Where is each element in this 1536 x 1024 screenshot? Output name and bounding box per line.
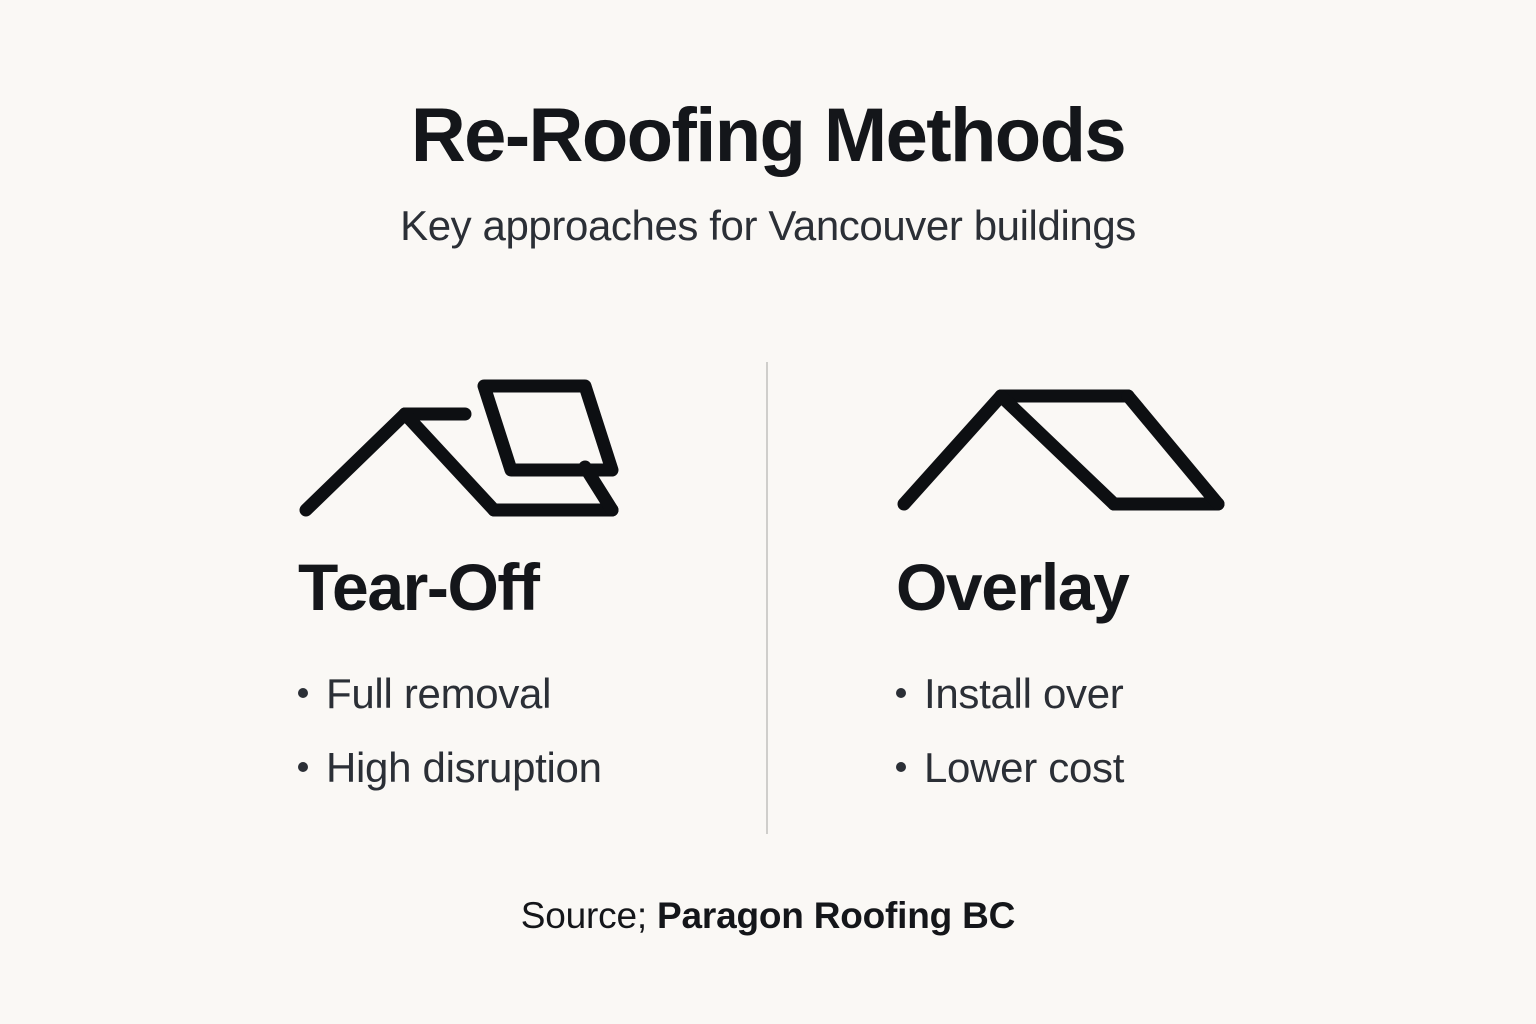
infographic-canvas: Re-Roofing Methods Key approaches for Va… [0, 0, 1536, 1024]
list-item: Install over [896, 672, 1536, 716]
roof-overlay-icon [896, 370, 1226, 522]
method-name-overlay: Overlay [896, 554, 1536, 620]
bullet-dot-icon [298, 762, 308, 772]
method-bullets-tear-off: Full removal High disruption [298, 672, 768, 790]
methods-columns: Tear-Off Full removal High disruption [0, 362, 1536, 834]
roof-overlay-icon-wrap [896, 362, 1536, 530]
list-item: Lower cost [896, 746, 1536, 790]
bullet-dot-icon [298, 688, 308, 698]
bullet-dot-icon [896, 762, 906, 772]
method-column-tear-off: Tear-Off Full removal High disruption [0, 362, 768, 834]
source-label: Source; [521, 895, 647, 936]
list-item: Full removal [298, 672, 768, 716]
bullet-text: Lower cost [924, 746, 1124, 790]
list-item: High disruption [298, 746, 768, 790]
page-title: Re-Roofing Methods [0, 96, 1536, 177]
bullet-dot-icon [896, 688, 906, 698]
roof-tear-off-icon [298, 370, 620, 522]
source-name: Paragon Roofing BC [657, 895, 1015, 936]
bullet-text: Full removal [326, 672, 551, 716]
bullet-text: High disruption [326, 746, 602, 790]
header: Re-Roofing Methods Key approaches for Va… [0, 96, 1536, 249]
bullet-text: Install over [924, 672, 1124, 716]
column-divider [766, 362, 768, 834]
roof-tear-off-icon-wrap [298, 362, 768, 530]
method-name-tear-off: Tear-Off [298, 554, 768, 620]
method-bullets-overlay: Install over Lower cost [896, 672, 1536, 790]
method-column-overlay: Overlay Install over Lower cost [768, 362, 1536, 834]
source-line: Source; Paragon Roofing BC [0, 896, 1536, 937]
page-subtitle: Key approaches for Vancouver buildings [0, 203, 1536, 249]
